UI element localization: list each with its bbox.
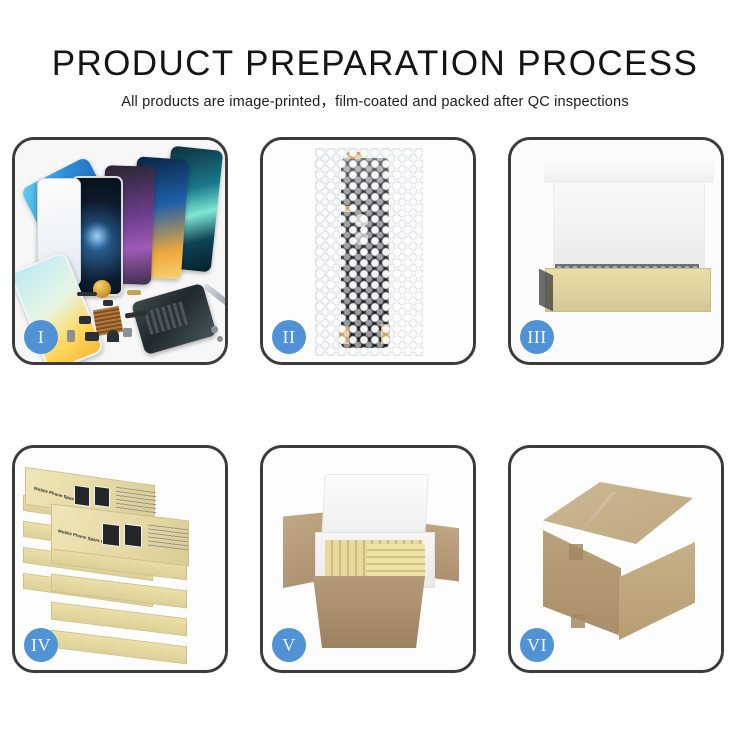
step-2-image: II [263, 140, 473, 362]
step-badge-1: I [24, 320, 58, 354]
step-panel-2: II [260, 137, 476, 365]
step-badge-4: IV [24, 628, 58, 662]
carton-tab-upper [569, 544, 583, 560]
box-text-lines-back [116, 487, 156, 515]
box-phone-image-f2 [124, 523, 142, 547]
part-strip-icon [77, 292, 97, 296]
stacked-box-f3 [51, 602, 187, 637]
step-badge-3: III [520, 320, 554, 354]
phone-chassis-icon [131, 283, 217, 355]
step-5-image: V [263, 448, 473, 670]
step-panel-3: III [508, 137, 724, 365]
steps-grid: I II [12, 137, 738, 688]
box-phone-image-b2 [94, 486, 110, 508]
kraft-inner-box [545, 268, 711, 312]
stacked-box-f2 [51, 574, 187, 609]
sealed-carton-top [543, 482, 693, 544]
step-3-image: III [511, 140, 721, 362]
part-sim-tray-icon [123, 328, 132, 337]
foam-lid-open [321, 474, 428, 538]
step-panel-6: VI [508, 445, 724, 673]
box-phone-image-f1 [102, 523, 120, 547]
carton-front-panel [313, 576, 425, 648]
bubble-texture-2 [315, 148, 423, 356]
step-4-image: Mobile Phone Spare Parts Mobile Phone Sp… [15, 448, 225, 670]
box-side-flap [539, 269, 553, 312]
step-badge-2: II [272, 320, 306, 354]
step-panel-1: I [12, 137, 228, 365]
box-phone-image-b1 [74, 485, 90, 507]
sealed-carton-right [619, 542, 695, 640]
step-6-image: VI [511, 448, 721, 670]
page-subtitle: All products are image-printed，film-coat… [0, 93, 750, 112]
part-button-icon [85, 332, 99, 341]
bubble-bag [315, 148, 423, 356]
part-screw-icon [211, 326, 218, 333]
part-buzzer-icon [107, 330, 119, 342]
part-gold-connector-icon [127, 290, 141, 295]
kraft-boxes-row-2 [367, 544, 425, 578]
box-text-lines-front [148, 524, 188, 551]
page-title: PRODUCT PREPARATION PROCESS [0, 42, 750, 86]
step-1-image: I [15, 140, 225, 362]
part-bracket-icon [79, 316, 91, 324]
header: PRODUCT PREPARATION PROCESS All products… [0, 0, 750, 112]
step-panel-5: V [260, 445, 476, 673]
part-small-chip-icon [103, 300, 113, 306]
stacked-box-f4 [51, 630, 187, 665]
carton-tab-lower [571, 614, 585, 628]
step-badge-5: V [272, 628, 306, 662]
part-screw-2-icon [217, 336, 223, 342]
product-preparation-infographic: PRODUCT PREPARATION PROCESS All products… [0, 0, 750, 750]
step-badge-6: VI [520, 628, 554, 662]
part-camera-icon [67, 330, 75, 342]
step-panel-4: Mobile Phone Spare Parts Mobile Phone Sp… [12, 445, 228, 673]
